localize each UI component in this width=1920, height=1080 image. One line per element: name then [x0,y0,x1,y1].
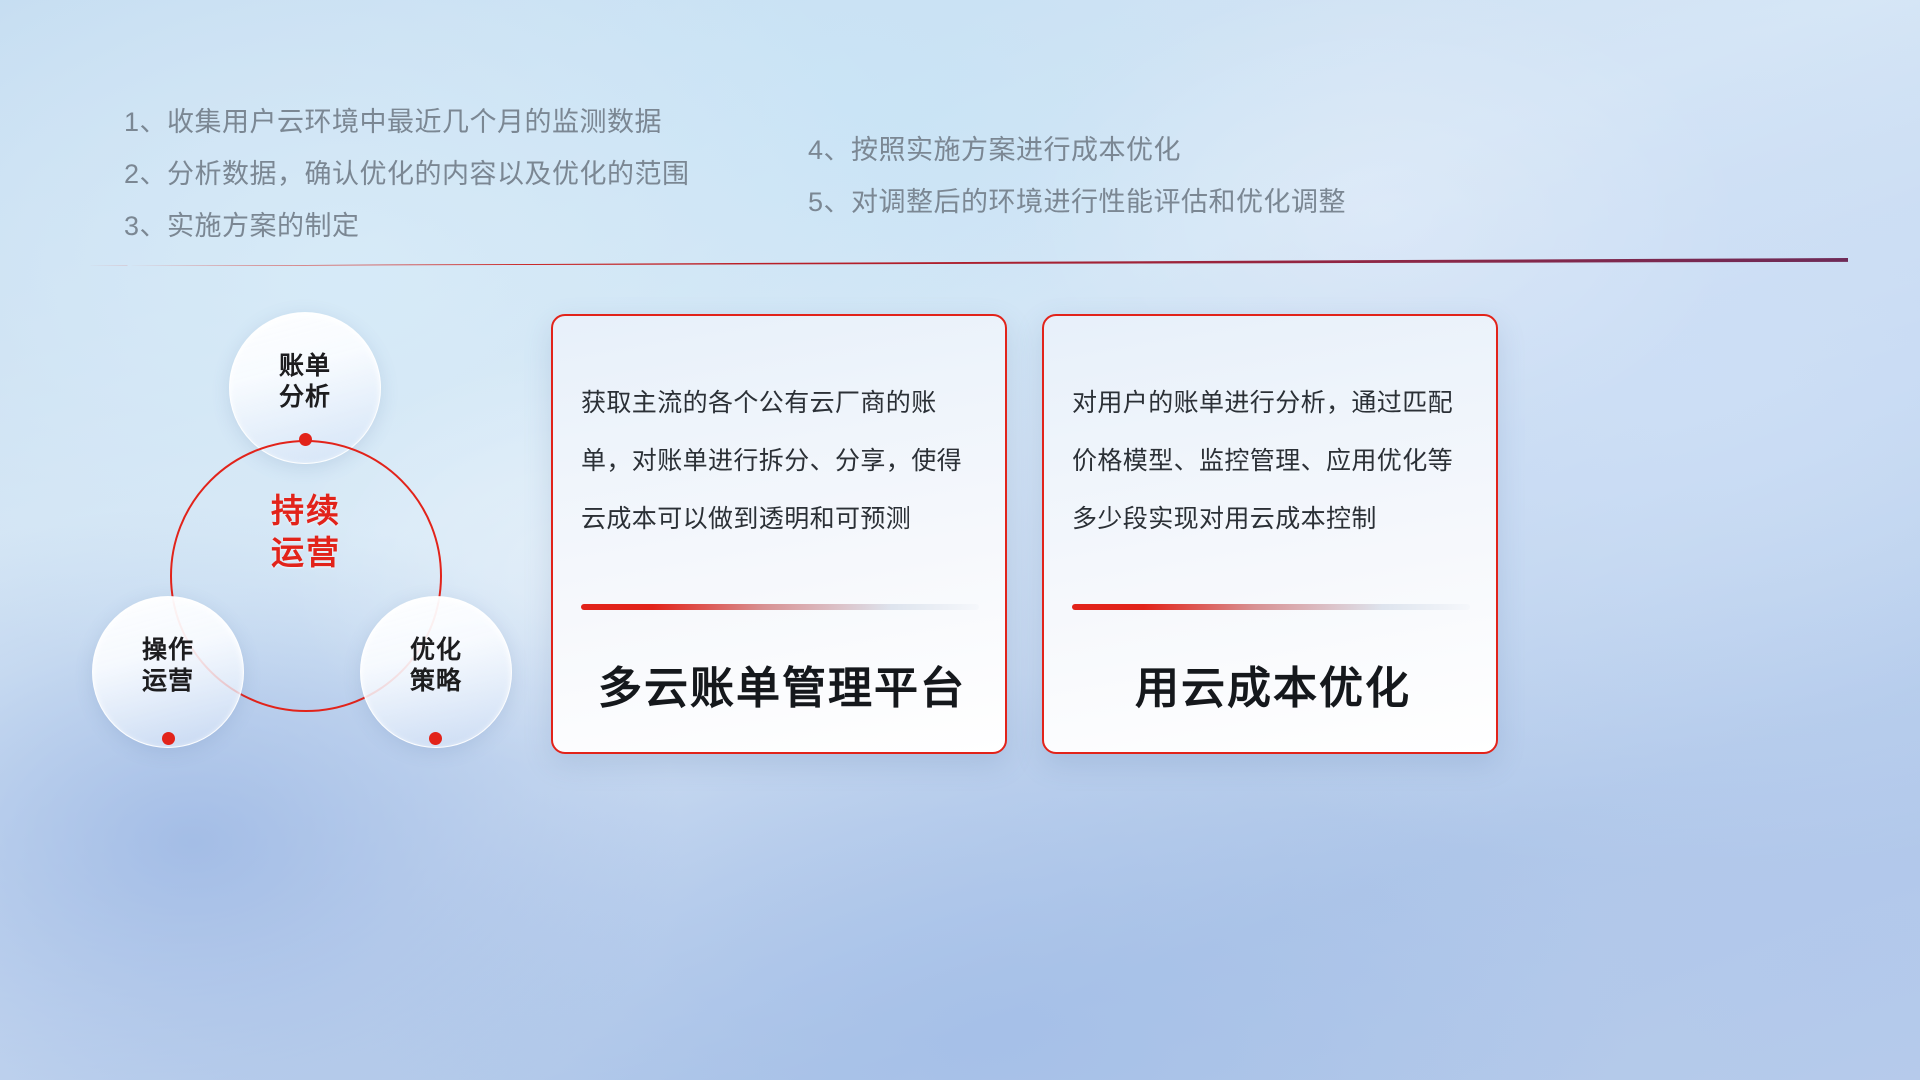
step-item: 4、按照实施方案进行成本优化 [808,124,1508,176]
info-card-body: 获取主流的各个公有云厂商的账单，对账单进行拆分、分享，使得云成本可以做到透明和可… [581,374,983,548]
info-card-multicloud-billing[interactable]: 获取主流的各个公有云厂商的账单，对账单进行拆分、分享，使得云成本可以做到透明和可… [551,314,1007,754]
venn-node-label-line1: 账单 [230,351,380,382]
info-card-body: 对用户的账单进行分析，通过匹配价格模型、监控管理、应用优化等多少段实现对用云成本… [1072,374,1474,548]
divider-rule [86,258,1848,266]
step-item: 5、对调整后的环境进行性能评估和优化调整 [808,176,1508,228]
venn-node-optimization-strategy: 优化 策略 [360,596,512,748]
info-card-underline [581,604,979,610]
info-card-underline [1072,604,1470,610]
info-card-title: 多云账单管理平台 [581,652,983,716]
venn-node-label-line1: 优化 [361,635,511,666]
venn-node-label-line1: 操作 [93,635,243,666]
venn-node-label-line2: 分析 [230,382,380,413]
venn-diagram: 账单 分析 操作 运营 优化 策略 持续 运营 [84,300,524,760]
venn-connector-dot-bottom-right [429,732,442,745]
step-item: 1、收集用户云环境中最近几个月的监测数据 [124,96,824,148]
venn-node-operations: 操作 运营 [92,596,244,748]
info-card-title: 用云成本优化 [1072,652,1474,716]
venn-node-label-line2: 运营 [93,666,243,697]
section-divider [86,258,1848,266]
venn-connector-dot-bottom-left [162,732,175,745]
steps-list-right: 4、按照实施方案进行成本优化 5、对调整后的环境进行性能评估和优化调整 [808,124,1508,228]
venn-node-label: 操作 运营 [93,635,243,697]
venn-connector-dot-top [299,433,312,446]
step-item: 2、分析数据，确认优化的内容以及优化的范围 [124,148,824,200]
venn-center-label-line2: 运营 [170,532,442,574]
info-card-cloud-cost-optimization[interactable]: 对用户的账单进行分析，通过匹配价格模型、监控管理、应用优化等多少段实现对用云成本… [1042,314,1498,754]
venn-node-label: 账单 分析 [230,351,380,413]
step-item: 3、实施方案的制定 [124,200,824,252]
venn-node-label: 优化 策略 [361,635,511,697]
venn-center-label: 持续 运营 [170,490,442,574]
venn-node-label-line2: 策略 [361,666,511,697]
steps-list-left: 1、收集用户云环境中最近几个月的监测数据 2、分析数据，确认优化的内容以及优化的… [124,96,824,252]
venn-center-label-line1: 持续 [170,490,442,532]
